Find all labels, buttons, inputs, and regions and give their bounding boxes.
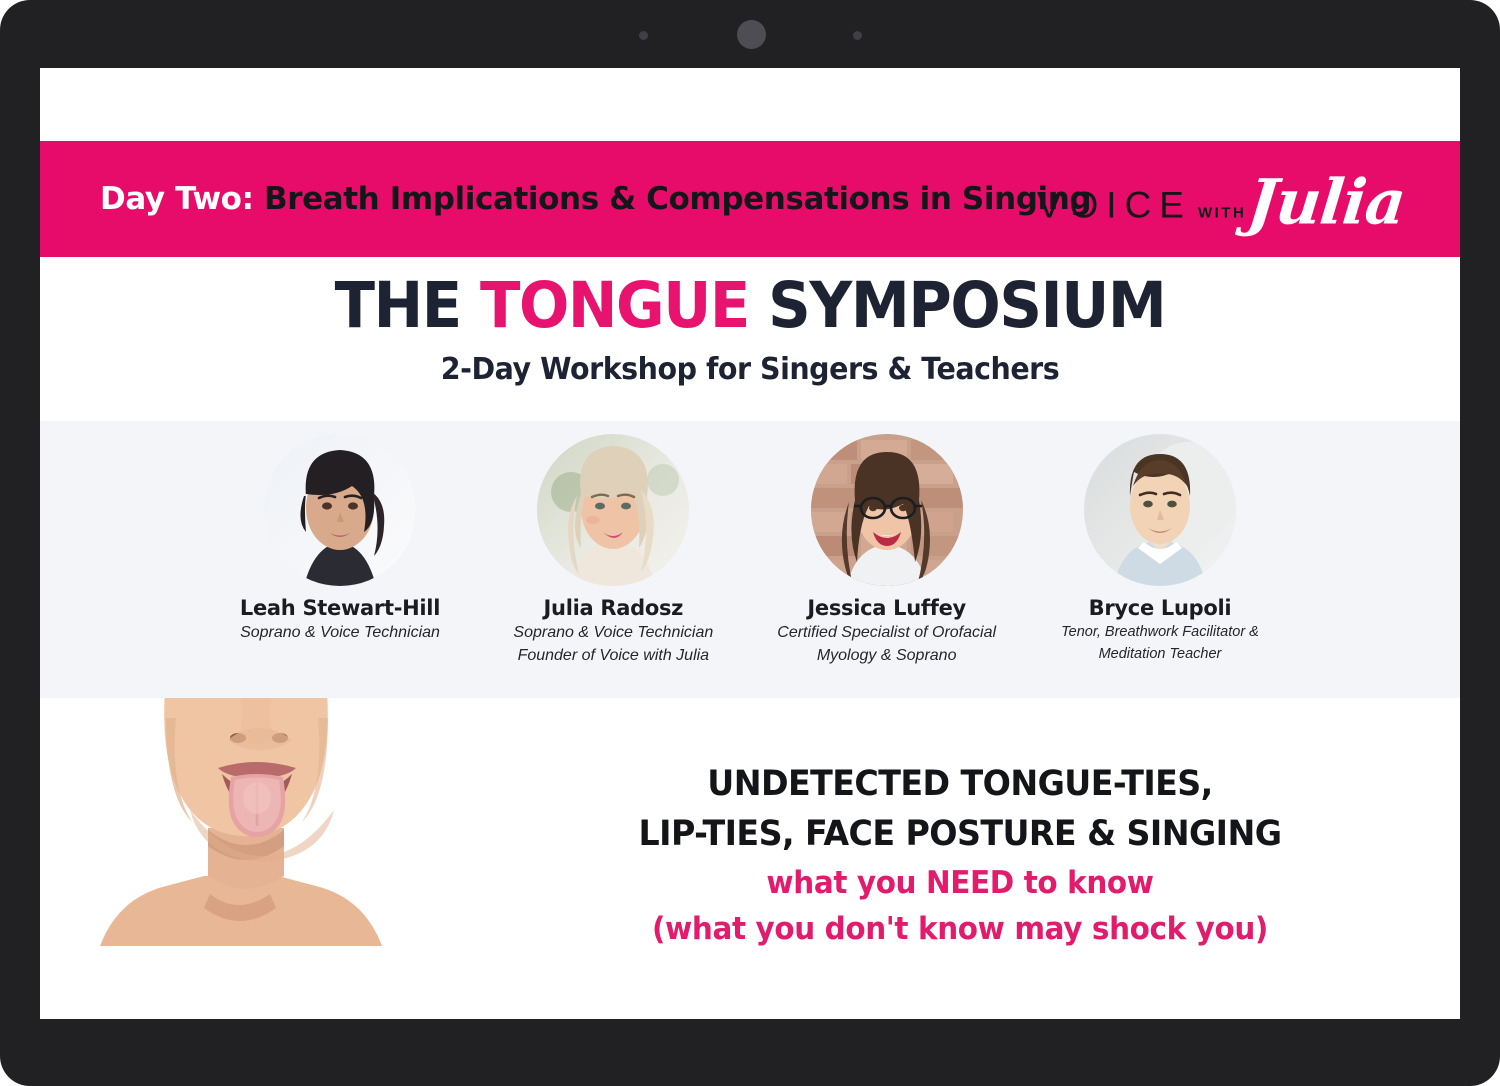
slide-banner: Day Two: Breath Implications & Compensat… bbox=[40, 141, 1460, 257]
banner-subject: Breath Implications & Compensations in S… bbox=[264, 181, 1091, 217]
device-camera-bar bbox=[0, 0, 1500, 68]
speaker-card-leah: Leah Stewart-Hill Soprano & Voice Techni… bbox=[215, 421, 465, 698]
tablet-device-frame: Day Two: Breath Implications & Compensat… bbox=[0, 0, 1500, 1086]
bottom-tagline-line-1: what you NEED to know bbox=[533, 863, 1388, 905]
banner-title: Day Two: Breath Implications & Compensat… bbox=[100, 181, 1091, 217]
logo-word-julia: Julia bbox=[1246, 178, 1408, 228]
logo-word-voice: VOICE bbox=[1037, 185, 1192, 227]
logo-word-with: WITH bbox=[1198, 205, 1246, 222]
headshot-julia-icon bbox=[537, 434, 689, 586]
page-subtitle: 2-Day Workshop for Singers & Teachers bbox=[76, 352, 1425, 387]
slide-screen: Day Two: Breath Implications & Compensat… bbox=[40, 68, 1460, 1019]
tongue-out-photo bbox=[90, 698, 463, 946]
title-part-1: THE bbox=[335, 269, 480, 342]
avatar bbox=[811, 434, 963, 586]
speaker-name: Bryce Lupoli bbox=[1035, 596, 1285, 620]
headshot-leah-icon bbox=[264, 434, 416, 586]
speaker-name: Julia Radosz bbox=[488, 596, 738, 620]
bottom-headline-line-1: UNDETECTED TONGUE-TIES, bbox=[533, 760, 1388, 810]
speaker-name: Leah Stewart-Hill bbox=[215, 596, 465, 620]
brand-logo: VOICE WITH Julia bbox=[1037, 172, 1405, 227]
speaker-role-line-1: Soprano & Voice Technician bbox=[215, 623, 465, 643]
headshot-jessica-icon bbox=[811, 434, 963, 586]
bottom-tagline-line-2: (what you don't know may shock you) bbox=[533, 909, 1388, 951]
avatar bbox=[1084, 434, 1236, 586]
bottom-headline-line-2: LIP-TIES, FACE POSTURE & SINGING bbox=[533, 810, 1388, 860]
banner-day-label: Day Two: bbox=[100, 181, 254, 217]
speaker-role-line-2: Meditation Teacher bbox=[1035, 645, 1285, 664]
speaker-role-line-2: Myology & Soprano bbox=[762, 646, 1012, 666]
bottom-headline-block: UNDETECTED TONGUE-TIES, LIP-TIES, FACE P… bbox=[510, 760, 1410, 951]
speakers-row: Leah Stewart-Hill Soprano & Voice Techni… bbox=[215, 421, 1285, 698]
avatar bbox=[264, 434, 416, 586]
page-title: THE TONGUE SYMPOSIUM bbox=[83, 273, 1418, 339]
title-block: THE TONGUE SYMPOSIUM 2-Day Workshop for … bbox=[40, 273, 1460, 387]
speaker-role-line-2: Founder of Voice with Julia bbox=[488, 646, 738, 666]
avatar bbox=[537, 434, 689, 586]
headshot-bryce-icon bbox=[1084, 434, 1236, 586]
sensor-dot-left-icon bbox=[639, 31, 648, 40]
speaker-role-line-1: Soprano & Voice Technician bbox=[488, 623, 738, 643]
speaker-card-jessica: Jessica Luffey Certified Specialist of O… bbox=[762, 421, 1012, 698]
camera-dot-center-icon bbox=[737, 20, 766, 49]
speaker-role-line-1: Certified Specialist of Orofacial bbox=[762, 623, 1012, 643]
speakers-band: Leah Stewart-Hill Soprano & Voice Techni… bbox=[40, 421, 1460, 698]
speaker-card-bryce: Bryce Lupoli Tenor, Breathwork Facilitat… bbox=[1035, 421, 1285, 698]
speaker-name: Jessica Luffey bbox=[762, 596, 1012, 620]
title-highlight: TONGUE bbox=[480, 269, 749, 342]
bottom-section: UNDETECTED TONGUE-TIES, LIP-TIES, FACE P… bbox=[40, 698, 1460, 1019]
speaker-role-line-1: Tenor, Breathwork Facilitator & bbox=[1035, 623, 1285, 642]
tongue-out-photo-icon bbox=[90, 698, 463, 946]
speaker-card-julia: Julia Radosz Soprano & Voice Technician … bbox=[488, 421, 738, 698]
sensor-dot-right-icon bbox=[853, 31, 862, 40]
title-part-2: SYMPOSIUM bbox=[749, 269, 1165, 342]
